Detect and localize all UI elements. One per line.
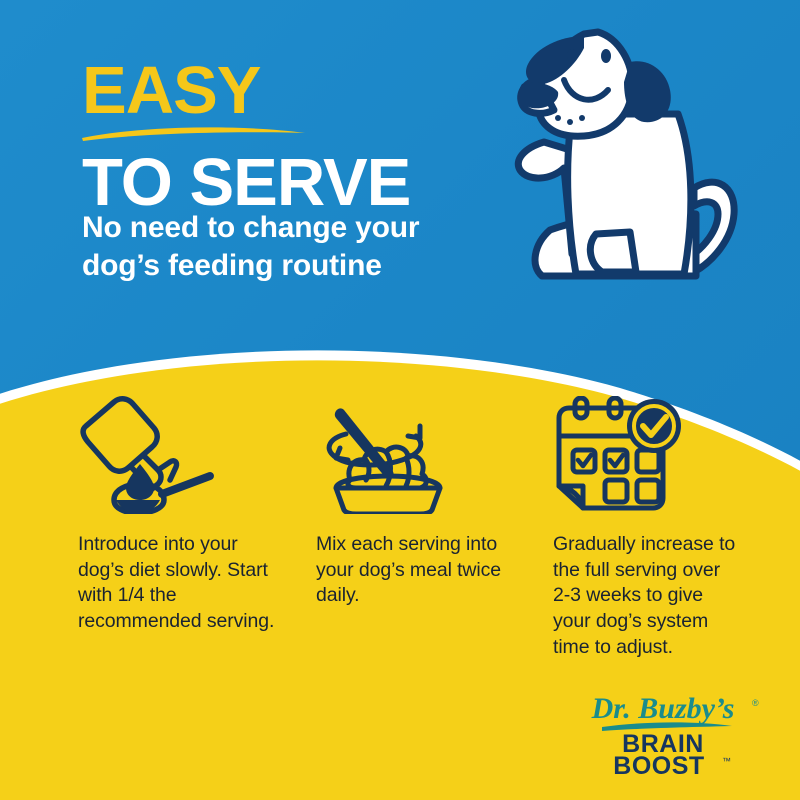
promo-infographic: EASY TO SERVE No need to change your dog… — [0, 0, 800, 800]
swoosh-underline-icon — [79, 122, 309, 144]
step-item: Mix each serving into your dog’s meal tw… — [316, 396, 516, 609]
steps-row: Introduce into your dog’s diet slowly. S… — [0, 396, 800, 696]
step-item: Gradually increase to the full serving o… — [553, 396, 753, 661]
logo-product-line-2: BOOST — [613, 752, 704, 778]
trademark-mark: ™ — [722, 756, 731, 766]
headline-block: EASY TO SERVE — [82, 58, 512, 215]
spoon-stirring-dog-bowl-icon — [316, 396, 516, 514]
bottle-dropper-spoon-icon — [78, 396, 278, 514]
headline-line-1: EASY — [82, 58, 512, 124]
step-text: Introduce into your dog’s diet slowly. S… — [78, 532, 278, 635]
stirring-spoon — [335, 408, 394, 478]
dog-eye-right — [601, 49, 611, 63]
step-text: Gradually increase to the full serving o… — [553, 532, 738, 661]
step-text: Mix each serving into your dog’s meal tw… — [316, 532, 516, 609]
logo-script-name: Dr. Buzby’s — [591, 692, 735, 725]
headline-line-2: TO SERVE — [82, 150, 512, 216]
subheadline: No need to change your dog’s feeding rou… — [82, 209, 482, 286]
brand-logo: Dr. Buzby’s ® BRAIN BOOST ™ — [556, 692, 770, 778]
calendar-check-icon — [553, 396, 753, 514]
sitting-dog-illustration — [498, 18, 798, 318]
step-item: Introduce into your dog’s diet slowly. S… — [78, 396, 278, 635]
dog-eye-left — [567, 49, 577, 63]
registered-mark: ® — [752, 698, 759, 708]
